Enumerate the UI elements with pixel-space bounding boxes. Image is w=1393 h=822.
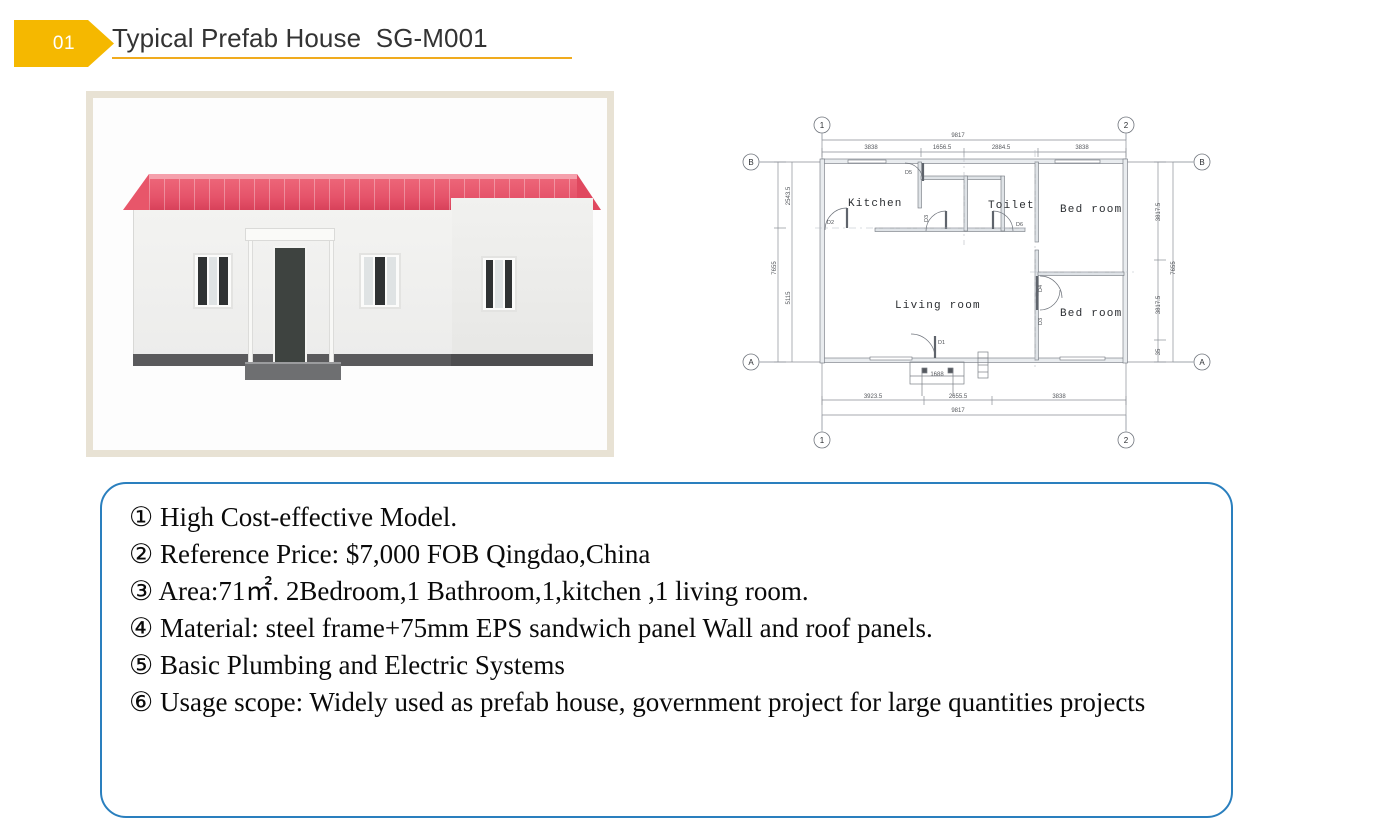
grid-marker-b-left: B xyxy=(748,158,753,167)
dim-bottom-1: 3923.5 xyxy=(864,394,883,400)
grid-marker-b-right: B xyxy=(1199,158,1204,167)
floor-plan-drawing: Kitchen Toilet Bed room Living room Bed … xyxy=(730,100,1230,460)
door-label-d3-bedroom: D3 xyxy=(1038,318,1044,325)
door-label-d2: D2 xyxy=(827,220,834,226)
dim-top-2: 1656.5 xyxy=(933,145,952,151)
porch-header-shape xyxy=(245,228,335,241)
room-label-bedroom-2: Bed room xyxy=(1060,308,1122,320)
roof-left-eave-shape xyxy=(123,174,149,210)
floor-plan-svg: Kitchen Toilet Bed room Living room Bed … xyxy=(730,100,1230,460)
porch-column-right xyxy=(329,241,334,366)
page-header: 01 Typical Prefab House SG-M001 xyxy=(0,0,1393,80)
spec-line-4: ④ Material: steel frame+75mm EPS sandwic… xyxy=(129,610,1213,647)
dim-top-4: 3838 xyxy=(1075,145,1089,151)
spec-line-3: ③ Area:71㎡. 2Bedroom,1 Bathroom,1,kitche… xyxy=(129,573,1213,610)
house-window-right xyxy=(481,256,517,312)
section-number-badge: 01 xyxy=(14,20,114,67)
page-title: Typical Prefab House SG-M001 xyxy=(112,23,488,53)
room-label-bedroom-1: Bed room xyxy=(1060,204,1122,216)
dim-right-2: 3817.5 xyxy=(1156,295,1162,314)
dim-bottom-2: 2655.5 xyxy=(949,394,968,400)
door-label-d1: D1 xyxy=(938,340,945,346)
house-base-right xyxy=(451,354,593,366)
door-label-d3-kitchen: D3 xyxy=(924,215,930,222)
dim-left-1: 2543.5 xyxy=(786,186,792,205)
door-label-d5: D5 xyxy=(905,170,912,176)
door-label-d6: D6 xyxy=(1016,222,1023,228)
spec-line-1: ① High Cost-effective Model. xyxy=(129,499,1213,536)
house-window-left xyxy=(193,253,233,309)
porch-column-left xyxy=(248,241,253,366)
dim-right-overall: 7655 xyxy=(1171,261,1177,275)
prefab-house-photo-frame xyxy=(86,91,614,457)
grid-marker-a-right: A xyxy=(1199,358,1205,367)
room-label-living-room: Living room xyxy=(895,300,981,312)
prefab-house-photo xyxy=(93,98,607,450)
dim-right-1: 3817.5 xyxy=(1156,202,1162,221)
dim-left-2: 5115 xyxy=(786,291,792,305)
dim-top-3: 2884.5 xyxy=(992,145,1011,151)
grid-marker-2-top: 2 xyxy=(1124,121,1129,130)
dim-bottom-overall: 9817 xyxy=(951,408,965,414)
spec-line-2: ② Reference Price: $7,000 FOB Qingdao,Ch… xyxy=(129,536,1213,573)
house-front-door xyxy=(273,246,307,366)
page-title-underline: Typical Prefab House SG-M001 xyxy=(112,23,572,59)
grid-marker-1-bottom: 1 xyxy=(820,436,825,445)
room-label-toilet: Toilet xyxy=(988,200,1035,212)
door-label-d4: D4 xyxy=(1038,285,1044,292)
house-wall-right xyxy=(451,198,593,362)
dim-right-3: 35 xyxy=(1156,348,1162,355)
house-window-middle xyxy=(359,253,401,309)
dim-bottom-3: 3838 xyxy=(1052,394,1066,400)
room-label-kitchen: Kitchen xyxy=(848,198,903,210)
grid-marker-2-bottom: 2 xyxy=(1124,436,1129,445)
specification-list: ① High Cost-effective Model. ② Reference… xyxy=(129,499,1213,721)
spec-line-5: ⑤ Basic Plumbing and Electric Systems xyxy=(129,647,1213,684)
roof-ridge-shape xyxy=(149,174,577,179)
grid-marker-a-left: A xyxy=(748,358,754,367)
dim-left-overall: 7655 xyxy=(772,261,778,275)
grid-marker-1-top: 1 xyxy=(820,121,825,130)
house-entry-step xyxy=(245,362,341,380)
spec-line-6: ⑥ Usage scope: Widely used as prefab hou… xyxy=(129,684,1213,721)
specification-box: ① High Cost-effective Model. ② Reference… xyxy=(100,482,1233,818)
dim-top-1: 3838 xyxy=(864,145,878,151)
dim-bottom-inner: 1688 xyxy=(930,372,944,378)
dim-top-overall: 9817 xyxy=(951,133,965,139)
